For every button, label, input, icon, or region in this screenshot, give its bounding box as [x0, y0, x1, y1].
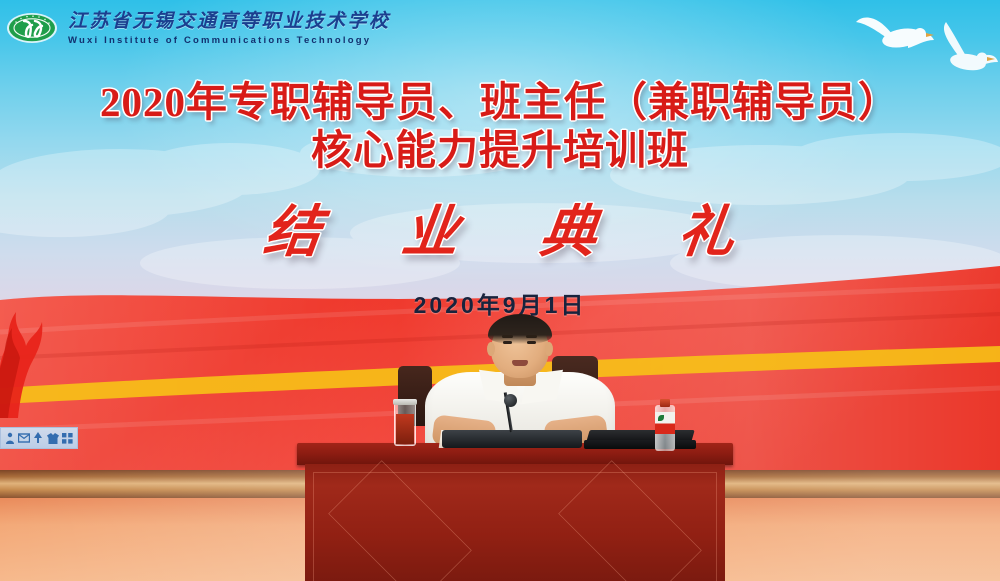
speaker-eye-left	[503, 341, 512, 344]
screenshot-root: 江苏省无锡交通高等职业技术学校 Wuxi Institute of Commun…	[0, 0, 1000, 581]
speaker-ear-right	[545, 342, 553, 356]
water-bottle-icon	[655, 399, 675, 451]
tree-icon	[33, 432, 43, 444]
person-icon	[5, 432, 15, 444]
speaker-ear-left	[487, 342, 495, 356]
envelope-icon	[18, 433, 30, 443]
speaker-podium	[305, 443, 725, 581]
pictogram-placard	[0, 427, 78, 449]
speaker-eye-right	[527, 341, 536, 344]
speaker-mouth	[512, 360, 528, 366]
school-emblem-oval-icon	[6, 5, 58, 51]
title-line-2: 核心能力提升培训班	[0, 128, 1000, 172]
podium-front-panel	[305, 464, 725, 581]
calligraphy-title: 结 业 典 礼	[0, 187, 1000, 268]
school-name-en: Wuxi Institute of Communications Technol…	[68, 36, 391, 46]
title-line-1: 2020年专职辅导员、班主任（兼职辅导员）	[0, 80, 1000, 124]
teacup-icon	[394, 402, 416, 450]
speaker-hair	[488, 314, 552, 344]
speaker-brow-right	[526, 335, 537, 338]
school-name-cn: 江苏省无锡交通高等职业技术学校	[68, 12, 391, 31]
laptop-icon	[588, 430, 693, 450]
school-identity-strip: 江苏省无锡交通高等职业技术学校 Wuxi Institute of Commun…	[0, 0, 1000, 56]
speaker-brow-left	[502, 335, 513, 338]
flame-flag-icon	[0, 300, 66, 420]
microphone-icon	[432, 396, 592, 448]
blocks-icon	[62, 433, 73, 444]
shirt-icon	[47, 433, 59, 444]
